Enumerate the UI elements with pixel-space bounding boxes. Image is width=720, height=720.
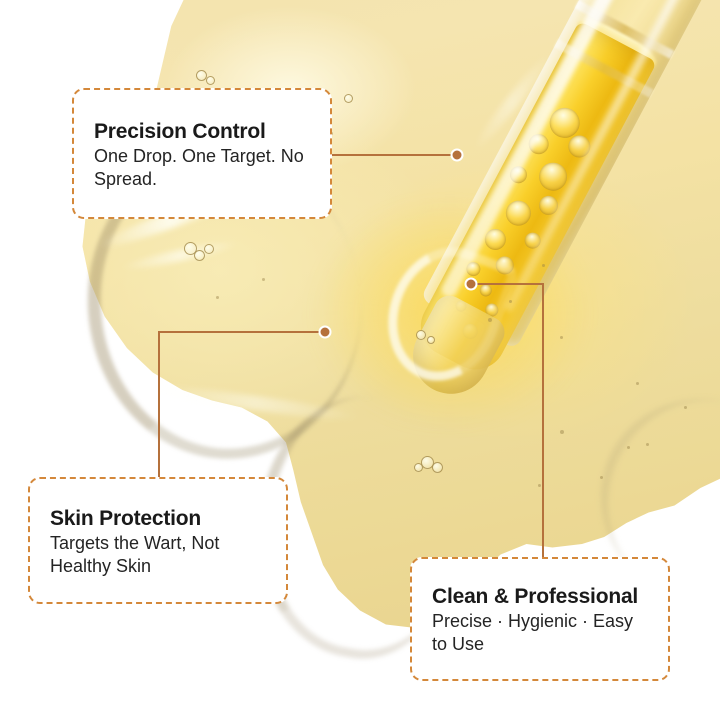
surface-bubble [414,463,423,472]
surface-speck [684,406,687,409]
anchor-dot-skin-protection [319,326,332,339]
callout-title: Precision Control [94,108,310,144]
surface-speck [542,264,545,267]
surface-bubble [416,330,426,340]
callout-subtitle: One Drop. One Target. No Spread. [94,145,310,190]
surface-bubble [206,76,215,85]
callout-title: Skin Protection [50,497,266,531]
surface-speck [216,296,219,299]
surface-bubble [194,250,205,261]
surface-speck [560,430,564,434]
anchor-dot-precision-control [451,149,464,162]
surface-speck [509,300,512,303]
surface-speck [262,278,265,281]
surface-bubble [427,336,435,344]
callout-subtitle: Precise · Hygienic · Easy to Use [432,610,648,655]
surface-bubble [204,244,214,254]
surface-speck [488,318,492,322]
product-feature-image: Precision Control One Drop. One Target. … [0,0,720,720]
surface-bubble [432,462,443,473]
surface-speck [560,336,563,339]
surface-speck [600,476,603,479]
surface-speck [538,484,541,487]
callout-clean-professional: Clean & Professional Precise · Hygienic … [410,557,670,681]
surface-bubble [344,94,353,103]
callout-skin-protection: Skin Protection Targets the Wart, Not He… [28,477,288,604]
anchor-dot-clean-professional [465,278,478,291]
surface-speck [636,382,639,385]
callout-precision-control: Precision Control One Drop. One Target. … [72,88,332,219]
callout-subtitle: Targets the Wart, Not Healthy Skin [50,532,266,577]
surface-speck [646,443,649,446]
callout-title: Clean & Professional [432,577,648,609]
surface-speck [627,446,630,449]
